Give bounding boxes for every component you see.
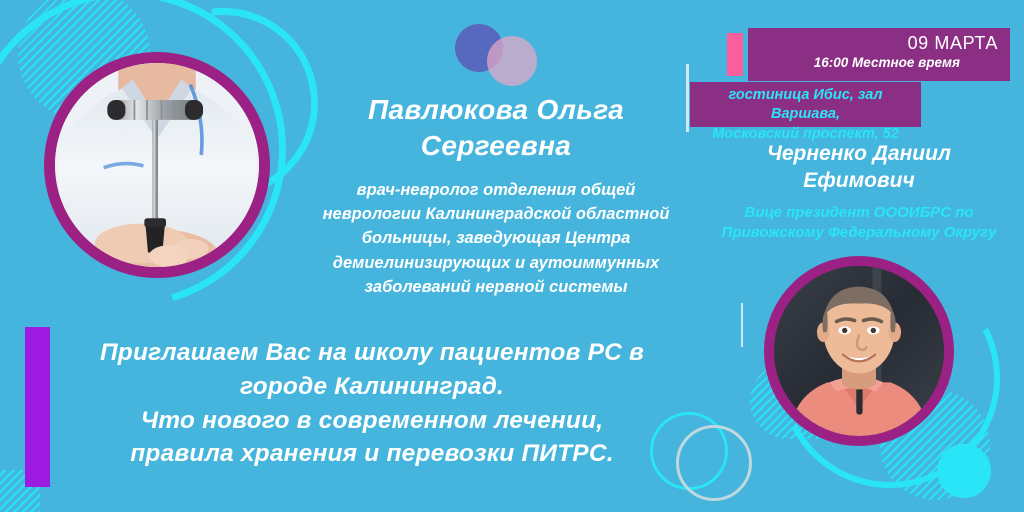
speaker-left-role-line4: демиелинизирующих и аутоиммунных: [333, 254, 660, 272]
cyan-dot-icon: [937, 444, 991, 498]
invitation-message-line4: правила хранения и перевозки ПИТРС.: [58, 437, 686, 471]
purple-circle-icon: [455, 24, 503, 72]
invitation-message-line3: Что нового в современном лечении,: [58, 404, 686, 438]
violet-accent-bar: [25, 327, 50, 487]
invitation-message-line1: Приглашаем Вас на школу пациентов РС в: [58, 336, 686, 370]
speaker-left-photo: [44, 52, 270, 278]
event-poster: Павлюкова Ольга Сергеевна врач-невролог …: [0, 0, 1024, 512]
man-portrait-image: [774, 266, 944, 436]
speaker-right-info: Черненко Даниил Ефимович Вице президент …: [700, 140, 1018, 244]
event-date: 09 МАРТА: [748, 33, 998, 54]
grey-ring-outline-icon: [676, 425, 752, 501]
speaker-left-role-line1: врач-невролог отделения общей: [357, 181, 636, 199]
speaker-left-role: врач-невролог отделения общей неврологии…: [296, 178, 696, 300]
doctor-with-reflex-hammer-image: [55, 63, 259, 267]
event-time: 16:00 Местное время: [748, 54, 998, 72]
pink-circle-icon: [487, 36, 537, 86]
speaker-right-photo: [764, 256, 954, 446]
hatched-square-bottom-left-icon: [0, 470, 40, 512]
event-venue-line1: гостиница Ибис, зал Варшава,: [729, 87, 883, 122]
speaker-right-name-line2: Ефимович: [803, 169, 915, 192]
event-venue-box: гостиница Ибис, зал Варшава, Московский …: [690, 82, 921, 127]
speaker-right-role-line1: Вице президент ОООИБРС по: [744, 204, 973, 221]
speaker-right-role: Вице президент ОООИБРС по Привожскому Фе…: [700, 203, 1018, 244]
speaker-left-role-line2: неврологии Калининградской областной: [323, 205, 670, 223]
speaker-left-name-line1: Павлюкова Ольга: [368, 94, 624, 125]
speaker-right-role-line2: Привожскому Федеральному Округу: [722, 224, 997, 241]
event-date-box: 09 МАРТА 16:00 Местное время: [748, 28, 1010, 81]
speaker-left-info: Павлюкова Ольга Сергеевна врач-невролог …: [296, 92, 696, 300]
speaker-right-name: Черненко Даниил Ефимович: [700, 140, 1018, 195]
vertical-divider: [741, 303, 743, 347]
speaker-right-name-line1: Черненко Даниил: [767, 142, 951, 165]
speaker-left-role-line3: больницы, заведующая Центра: [362, 229, 631, 247]
invitation-message-line2: городе Калининград.: [58, 370, 686, 404]
pink-accent-bar: [727, 33, 743, 76]
invitation-message: Приглашаем Вас на школу пациентов РС в г…: [58, 336, 686, 471]
speaker-left-role-line5: заболеваний нервной системы: [364, 278, 627, 296]
speaker-left-name: Павлюкова Ольга Сергеевна: [296, 92, 696, 164]
speaker-left-name-line2: Сергеевна: [421, 130, 571, 161]
